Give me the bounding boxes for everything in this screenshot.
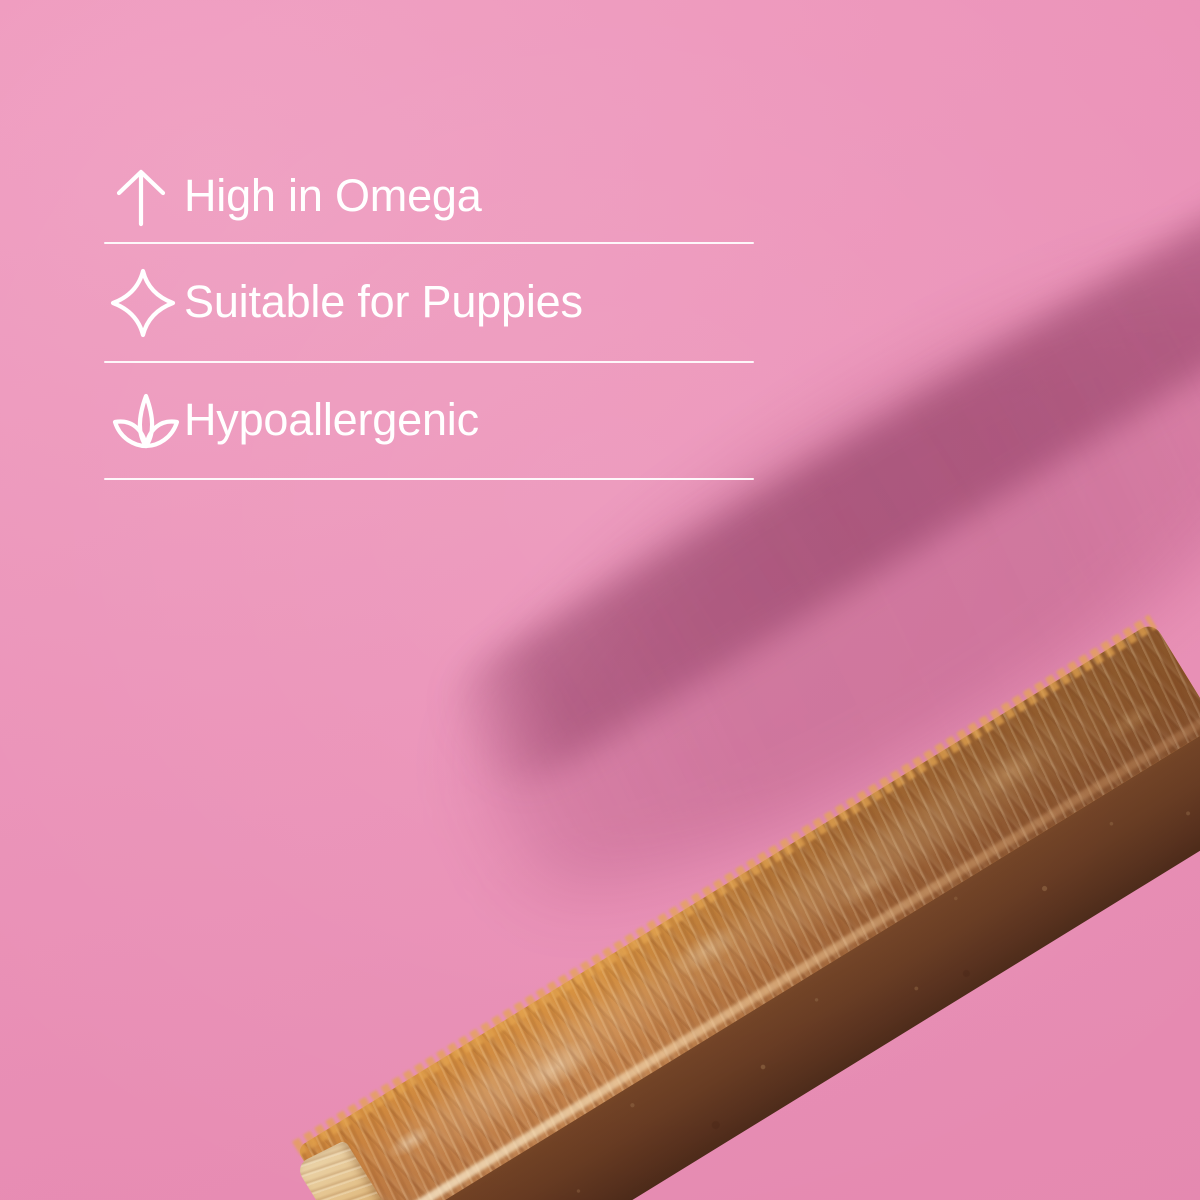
up-arrow-icon [104,167,184,227]
feature-row-high-in-omega: High in Omega [104,150,754,243]
lotus-leaf-icon [104,392,184,450]
feature-label: High in Omega [184,173,482,218]
feature-row-suitable-for-puppies: Suitable for Puppies [104,243,754,362]
sparkle-diamond-icon [104,268,184,338]
feature-label: Hypoallergenic [184,397,479,442]
feature-divider [104,242,754,244]
product-feature-card: High in Omega Suitable for Puppies Hypoa… [0,0,1200,1200]
feature-row-hypoallergenic: Hypoallergenic [104,362,754,479]
feature-label: Suitable for Puppies [184,279,583,324]
feature-divider [104,478,754,480]
feature-list: High in Omega Suitable for Puppies Hypoa… [104,150,754,479]
feature-divider [104,361,754,363]
